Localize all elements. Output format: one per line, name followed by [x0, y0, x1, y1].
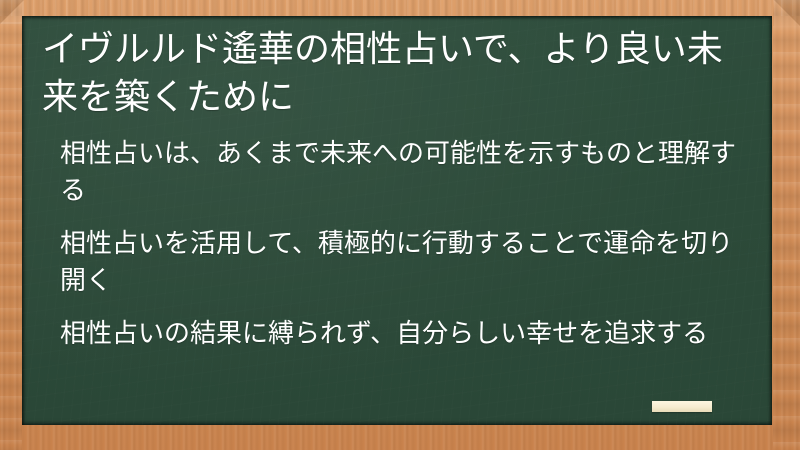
list-item: 相性占いの結果に縛られず、自分らしい幸せを追求する — [60, 316, 752, 353]
frame-miter-corner-top-left — [0, 0, 24, 24]
frame-grain-right — [773, 0, 800, 450]
slide-content: イヴルルド遙華の相性占いで、より良い未来を築くために 相性占いは、あくまで未来へ… — [22, 16, 772, 353]
bullet-list: 相性占いは、あくまで未来への可能性を示すものと理解する 相性占いを活用して、積極… — [36, 136, 758, 353]
list-item: 相性占いを活用して、積極的に行動することで運命を切り開く — [60, 226, 752, 300]
frame-grain-left — [0, 0, 22, 450]
frame-miter-corner-top-right — [774, 0, 800, 26]
frame-grain-top — [0, 0, 800, 16]
page-title: イヴルルド遙華の相性占いで、より良い未来を築くために — [36, 26, 758, 122]
list-item: 相性占いは、あくまで未来への可能性を示すものと理解する — [60, 136, 752, 210]
chalkboard-surface: イヴルルド遙華の相性占いで、より良い未来を築くために 相性占いは、あくまで未来へ… — [22, 16, 772, 425]
chalk-stick-icon — [652, 401, 712, 412]
chalkboard-slide: イヴルルド遙華の相性占いで、より良い未来を築くために 相性占いは、あくまで未来へ… — [0, 0, 800, 450]
